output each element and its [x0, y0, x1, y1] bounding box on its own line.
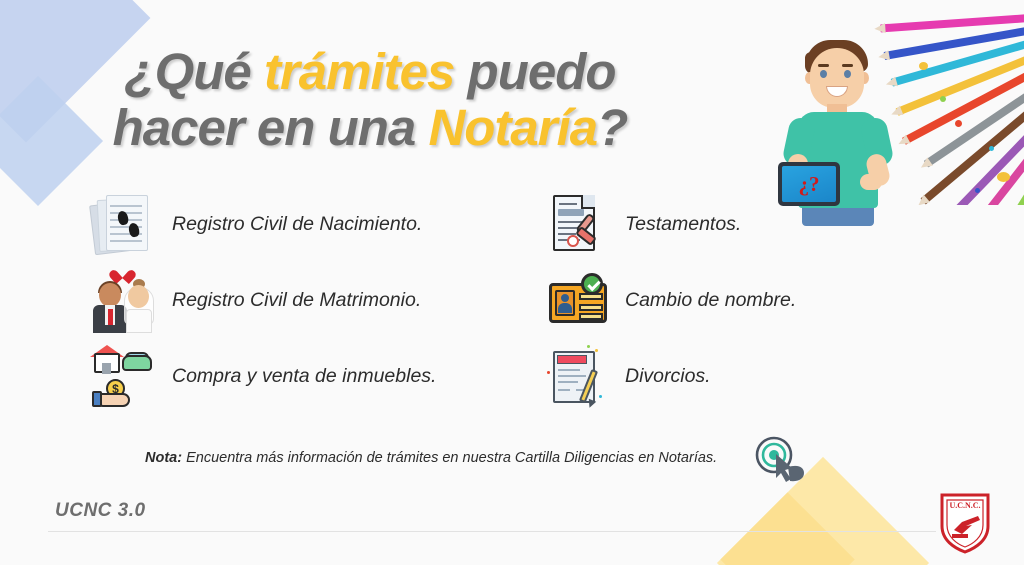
title-highlight: Notaría — [428, 99, 597, 156]
ucnc-logo: U.C.N.C. — [938, 492, 992, 554]
page-title: ¿Qué trámites puedo hacer en una Notaría… — [0, 44, 740, 156]
title-text: ? — [597, 99, 627, 156]
footer-divider — [48, 531, 936, 532]
note-text: Nota: Encuentra más información de trámi… — [145, 450, 717, 466]
testament-document-icon — [543, 191, 615, 257]
list-item-label: Testamentos. — [625, 213, 741, 236]
list-item-label: Compra y venta de inmuebles. — [172, 365, 436, 388]
list-item-label: Cambio de nombre. — [625, 289, 796, 312]
title-line-2: hacer en una Notaría? — [0, 100, 740, 156]
title-text: hacer en una — [113, 99, 429, 156]
wedding-couple-icon — [88, 267, 160, 333]
title-line-1: ¿Qué trámites puedo — [0, 44, 740, 100]
id-card-check-icon — [543, 267, 615, 333]
services-row: Registro Civil de Matrimonio. Cambio de … — [88, 262, 938, 338]
tap-hand-icon — [752, 434, 810, 484]
list-item: $ Compra y venta de inmuebles. — [88, 338, 543, 414]
footer-label: UCNC 3.0 — [55, 500, 146, 522]
list-item: Registro Civil de Matrimonio. — [88, 262, 543, 338]
slide-canvas: ¿? ¿Qué trámites puedo hacer en una Nota… — [0, 0, 1024, 565]
title-text: puedo — [454, 43, 615, 100]
services-list: Registro Civil de Nacimiento. Testament — [88, 186, 938, 414]
list-item: Divorcios. — [543, 338, 923, 414]
note-body: Encuentra más información de trámites en… — [182, 450, 717, 466]
divorce-document-icon — [543, 343, 615, 409]
services-row: $ Compra y venta de inmuebles. — [88, 338, 938, 414]
list-item-label: Registro Civil de Nacimiento. — [172, 213, 422, 236]
list-item: Registro Civil de Nacimiento. — [88, 186, 543, 262]
list-item: Testamentos. — [543, 186, 923, 262]
note-prefix: Nota: — [145, 450, 182, 466]
logo-text: U.C.N.C. — [949, 501, 980, 510]
title-text: ¿Qué — [124, 43, 264, 100]
services-row: Registro Civil de Nacimiento. Testament — [88, 186, 938, 262]
title-highlight: trámites — [264, 43, 454, 100]
house-car-money-icon: $ — [88, 343, 160, 409]
list-item: Cambio de nombre. — [543, 262, 923, 338]
birth-certificate-icon — [88, 191, 160, 257]
list-item-label: Registro Civil de Matrimonio. — [172, 289, 421, 312]
list-item-label: Divorcios. — [625, 365, 711, 388]
